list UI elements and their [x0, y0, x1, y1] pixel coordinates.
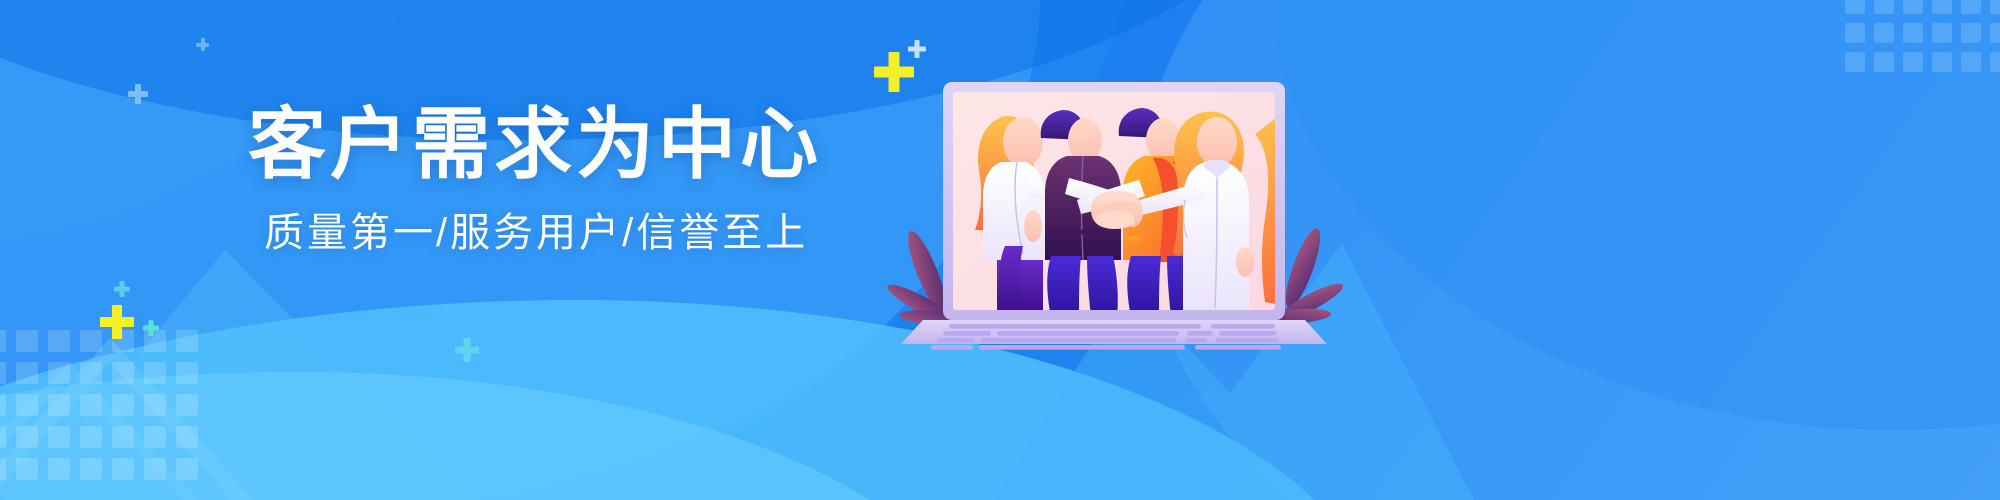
banner-copy: 客户需求为中心 质量第一/服务用户/信誉至上 [248, 105, 868, 253]
plus-icon-cyan-small-2 [114, 281, 130, 297]
plus-icon-cyan-small [143, 320, 159, 336]
plus-icon-top-left [128, 84, 148, 104]
laptop-team-illustration [905, 50, 1325, 350]
plus-icon-cyan-middle [455, 338, 479, 362]
dot-grid-top-right [1845, 0, 2000, 72]
promo-banner: 客户需求为中心 质量第一/服务用户/信誉至上 [0, 0, 2000, 500]
plus-icon-top-left-2 [196, 38, 209, 51]
plus-icon-yellow-bottom [100, 305, 134, 339]
banner-headline: 客户需求为中心 [248, 105, 868, 183]
banner-subline: 质量第一/服务用户/信誉至上 [264, 213, 868, 253]
dot-grid-bottom-left [0, 330, 198, 480]
